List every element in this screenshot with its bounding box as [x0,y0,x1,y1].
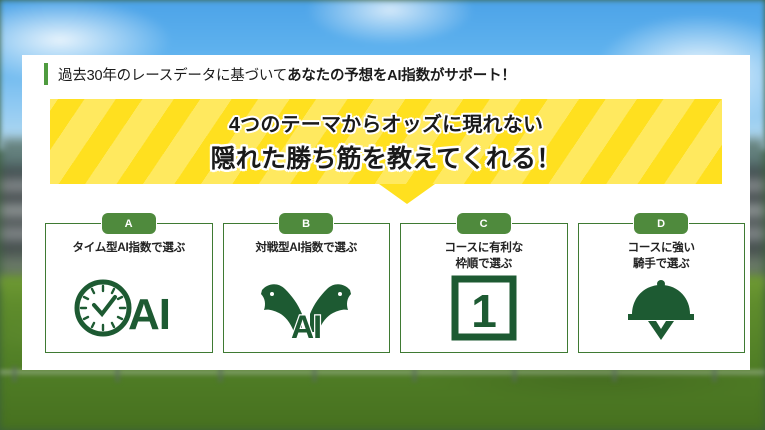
card-tab-label-c: C [457,213,511,234]
card-title-a: タイム型AI指数で選ぶ [46,240,212,256]
theme-card-list: A タイム型AI指数で選ぶ [45,223,745,353]
content-panel: 過去30年のレースデータに基づいてあなたの予想をAI指数がサポート！ 4つのテー… [22,55,750,370]
card-tab-label-a: A [102,213,156,234]
svg-text:AI: AI [128,290,170,339]
theme-card-c[interactable]: C コースに有利な 枠順で選ぶ 1 [400,223,568,353]
accent-bar-icon [44,63,48,85]
highlight-banner-line1: 4つのテーマからオッズに現れない [229,108,543,137]
page-title-text-part2: あなたの予想をAI指数がサポート！ [287,68,516,84]
highlight-banner-inner: 4つのテーマからオッズに現れない 隠れた勝ち筋を教えてくれる！ [50,99,722,184]
theme-card-a[interactable]: A タイム型AI指数で選ぶ [45,223,213,353]
theme-card-b[interactable]: B 対戦型AI指数で選ぶ AI [223,223,391,353]
page-title-text: 過去30年のレースデータに基づいてあなたの予想をAI指数がサポート！ [58,64,516,85]
highlight-banner: 4つのテーマからオッズに現れない 隠れた勝ち筋を教えてくれる！ [50,99,722,184]
card-tab-label-d: D [634,213,688,234]
highlight-banner-line2: 隠れた勝ち筋を教えてくれる！ [211,139,562,175]
card-title-d: コースに強い 騎手で選ぶ [579,240,745,273]
two-horse-heads-ai-icon: AI [224,272,390,344]
svg-text:AI: AI [291,309,321,340]
svg-text:1: 1 [471,285,497,337]
card-title-c: コースに有利な 枠順で選ぶ [401,240,567,273]
down-triangle-arrow-icon [379,184,435,204]
jockey-helmet-icon [579,272,745,344]
card-title-b: 対戦型AI指数で選ぶ [224,240,390,256]
card-tab-label-b: B [279,213,333,234]
theme-card-d[interactable]: D コースに強い 騎手で選ぶ [578,223,746,353]
page-title: 過去30年のレースデータに基づいてあなたの予想をAI指数がサポート！ [44,63,516,85]
clock-ai-icon: AI [46,272,212,344]
gate-number-one-icon: 1 [401,272,567,344]
page-title-text-part1: 過去30年のレースデータに基づいて [58,68,287,84]
